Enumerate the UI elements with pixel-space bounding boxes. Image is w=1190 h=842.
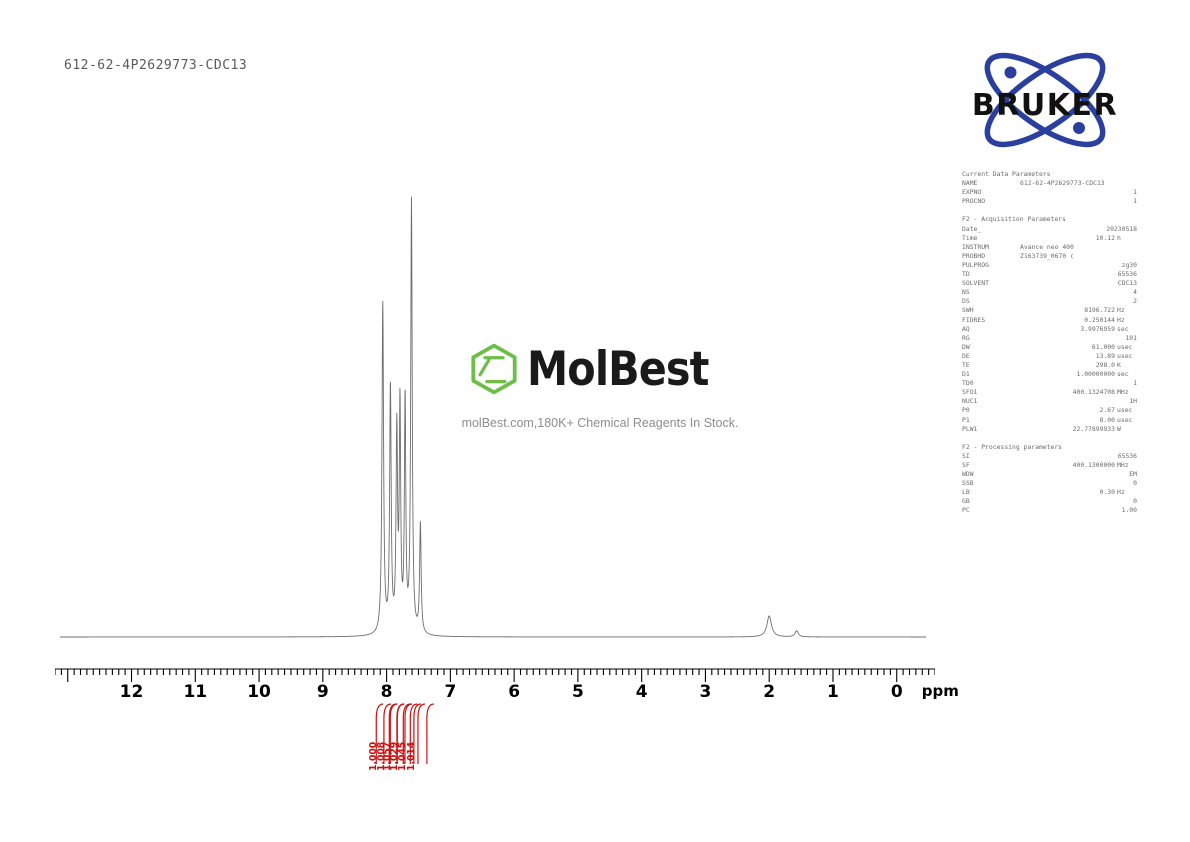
param-row: NS4: [962, 288, 1137, 297]
page-title: 612-62-4P2629773-CDC13: [64, 58, 247, 73]
spectrum-trace: [60, 197, 926, 637]
param-row: P18.00usec: [962, 416, 1137, 425]
param-value: 8196.722: [1084, 306, 1115, 315]
param-key: SOLVENT: [962, 279, 989, 288]
param-row: SOLVENTCDC13: [962, 279, 1137, 288]
param-row: PULPROGzg30: [962, 261, 1137, 270]
param-row: LB0.30Hz: [962, 488, 1137, 497]
param-row: PLW122.77899933W: [962, 425, 1137, 434]
param-value: 3.9976959: [1080, 325, 1115, 334]
param-row: GB0: [962, 497, 1137, 506]
param-value: 22.77899933: [1073, 425, 1115, 434]
param-value: 2: [1133, 297, 1137, 306]
axis-tick-label-7: 7: [444, 682, 456, 702]
param-value: 400.1300000: [1073, 461, 1115, 470]
spectrum-plot: [60, 180, 926, 640]
param-value: 0: [1133, 497, 1137, 506]
param-value: 0: [1133, 479, 1137, 488]
param-value: 612-62-4P2629773-CDC13: [1020, 179, 1105, 188]
param-row: FIDRES0.250144Hz: [962, 316, 1137, 325]
param-key: RG: [962, 334, 970, 343]
param-section-gap: [962, 434, 1137, 443]
param-key: LB: [962, 488, 970, 497]
param-key: SWH: [962, 306, 974, 315]
param-unit: sec: [1117, 325, 1137, 334]
param-value: EM: [1129, 470, 1137, 479]
param-value: 4: [1133, 288, 1137, 297]
axis-tick-label-6: 6: [508, 682, 520, 702]
param-row: NUC11H: [962, 397, 1137, 406]
param-value: CDC13: [1118, 279, 1137, 288]
param-unit: K: [1117, 361, 1137, 370]
param-value: 1: [1133, 188, 1137, 197]
param-value: Z163739_0670 (: [1020, 252, 1074, 261]
param-row: DW61.000usec: [962, 343, 1137, 352]
param-value: 8.00: [1100, 416, 1115, 425]
param-key: DS: [962, 297, 970, 306]
param-key: PULPROG: [962, 261, 989, 270]
axis-tick-label-5: 5: [572, 682, 584, 702]
param-unit: usec: [1117, 406, 1137, 415]
axis-tick-label-10: 10: [247, 682, 271, 702]
param-key: TD: [962, 270, 970, 279]
param-value: 1H: [1129, 397, 1137, 406]
param-unit: Hz: [1117, 306, 1137, 315]
param-row: SFO1400.1324708MHz: [962, 388, 1137, 397]
axis-tick-label-4: 4: [636, 682, 648, 702]
spectrum-trace-svg: [60, 180, 926, 640]
param-value: 101: [1125, 334, 1137, 343]
param-row: WDWEM: [962, 470, 1137, 479]
ppm-axis-labels: 1211109876543210ppm: [55, 682, 935, 706]
param-section-gap: [962, 206, 1137, 215]
axis-tick-label-2: 2: [763, 682, 775, 702]
param-unit: sec: [1117, 370, 1137, 379]
param-value: 1.00: [1122, 506, 1137, 515]
axis-tick-label-3: 3: [700, 682, 712, 702]
param-value: Avance neo 400: [1020, 243, 1074, 252]
param-row: Time10.12h: [962, 234, 1137, 243]
param-value: 10.12: [1096, 234, 1115, 243]
param-key: NAME: [962, 179, 977, 188]
param-value: 0.250144: [1084, 316, 1115, 325]
param-section-heading: F2 - Acquisition Parameters: [962, 215, 1137, 224]
nmr-spectrum-page: 612-62-4P2629773-CDC13 BRUKER Current Da…: [0, 0, 1190, 842]
param-key: SI: [962, 452, 970, 461]
param-value: zg30: [1122, 261, 1137, 270]
param-unit: MHz: [1117, 461, 1137, 470]
param-key: D1: [962, 370, 970, 379]
param-row: PROCNO1: [962, 197, 1137, 206]
param-row: SI65536: [962, 452, 1137, 461]
param-key: DE: [962, 352, 970, 361]
bruker-wordmark: BRUKER: [972, 88, 1118, 123]
param-value: 20230518: [1106, 225, 1137, 234]
param-key: PLW1: [962, 425, 977, 434]
param-row: TE298.0K: [962, 361, 1137, 370]
param-value: 61.000: [1092, 343, 1115, 352]
param-key: PC: [962, 506, 970, 515]
param-key: INSTRUM: [962, 243, 989, 252]
axis-tick-label-1: 1: [827, 682, 839, 702]
param-row: EXPNO1: [962, 188, 1137, 197]
axis-tick-label-9: 9: [317, 682, 329, 702]
param-row: D11.00000000sec: [962, 370, 1137, 379]
param-unit: usec: [1117, 343, 1137, 352]
param-value: 400.1324708: [1073, 388, 1115, 397]
param-key: FIDRES: [962, 316, 985, 325]
param-section-heading: Current Data Parameters: [962, 170, 1137, 179]
param-key: WDW: [962, 470, 974, 479]
param-unit: MHz: [1117, 388, 1137, 397]
param-row: P02.67usec: [962, 406, 1137, 415]
integral-value-labels: 1.0001.0081.0571.0291.0451.014: [325, 702, 450, 782]
param-key: Time: [962, 234, 977, 243]
param-row: DS2: [962, 297, 1137, 306]
bruker-logo: BRUKER: [955, 52, 1135, 148]
param-row: PC1.00: [962, 506, 1137, 515]
param-row: SSB0: [962, 479, 1137, 488]
param-key: Date_: [962, 225, 981, 234]
axis-tick-label-0: 0: [891, 682, 903, 702]
param-row: AQ3.9976959sec: [962, 325, 1137, 334]
param-section-heading: F2 - Processing parameters: [962, 443, 1137, 452]
param-key: TE: [962, 361, 970, 370]
param-row: SF400.1300000MHz: [962, 461, 1137, 470]
param-key: SF: [962, 461, 970, 470]
param-row: TD01: [962, 379, 1137, 388]
param-key: AQ: [962, 325, 970, 334]
param-key: PROCNO: [962, 197, 985, 206]
param-value: 298.0: [1096, 361, 1115, 370]
param-key: GB: [962, 497, 970, 506]
orbit-dot-bottom: [1073, 122, 1085, 134]
param-value: 1.00000000: [1077, 370, 1115, 379]
axis-tick-label-11: 11: [183, 682, 207, 702]
param-key: DW: [962, 343, 970, 352]
param-key: NUC1: [962, 397, 977, 406]
param-value: 65536: [1118, 270, 1137, 279]
param-unit: usec: [1117, 416, 1137, 425]
param-key: NS: [962, 288, 970, 297]
param-row: Date_20230518: [962, 225, 1137, 234]
param-unit: usec: [1117, 352, 1137, 361]
param-row: PROBHDZ163739_0670 (: [962, 252, 1137, 261]
param-key: PROBHD: [962, 252, 985, 261]
param-value: 13.89: [1096, 352, 1115, 361]
param-key: SFO1: [962, 388, 977, 397]
param-unit: Hz: [1117, 316, 1137, 325]
param-row: INSTRUMAvance neo 400: [962, 243, 1137, 252]
param-key: SSB: [962, 479, 974, 488]
param-key: TD0: [962, 379, 974, 388]
param-value: 0.30: [1100, 488, 1115, 497]
param-row: DE13.89usec: [962, 352, 1137, 361]
param-unit: Hz: [1117, 488, 1137, 497]
param-value: 65536: [1118, 452, 1137, 461]
param-row: TD65536: [962, 270, 1137, 279]
param-value: 1: [1133, 379, 1137, 388]
param-value: 2.67: [1100, 406, 1115, 415]
param-value: 1: [1133, 197, 1137, 206]
param-key: P1: [962, 416, 970, 425]
param-row: SWH8196.722Hz: [962, 306, 1137, 315]
axis-tick-label-12: 12: [120, 682, 144, 702]
param-key: EXPNO: [962, 188, 981, 197]
acquisition-parameters-panel: Current Data ParametersNAME612-62-4P2629…: [962, 170, 1137, 516]
param-row: RG101: [962, 334, 1137, 343]
axis-tick-label-8: 8: [381, 682, 393, 702]
param-row: NAME612-62-4P2629773-CDC13: [962, 179, 1137, 188]
param-unit: h: [1117, 234, 1137, 243]
param-key: P0: [962, 406, 970, 415]
integral-value: 1.014: [406, 742, 417, 771]
orbit-dot-top: [1005, 67, 1017, 79]
axis-unit-label: ppm: [922, 682, 959, 700]
param-unit: W: [1117, 425, 1137, 434]
